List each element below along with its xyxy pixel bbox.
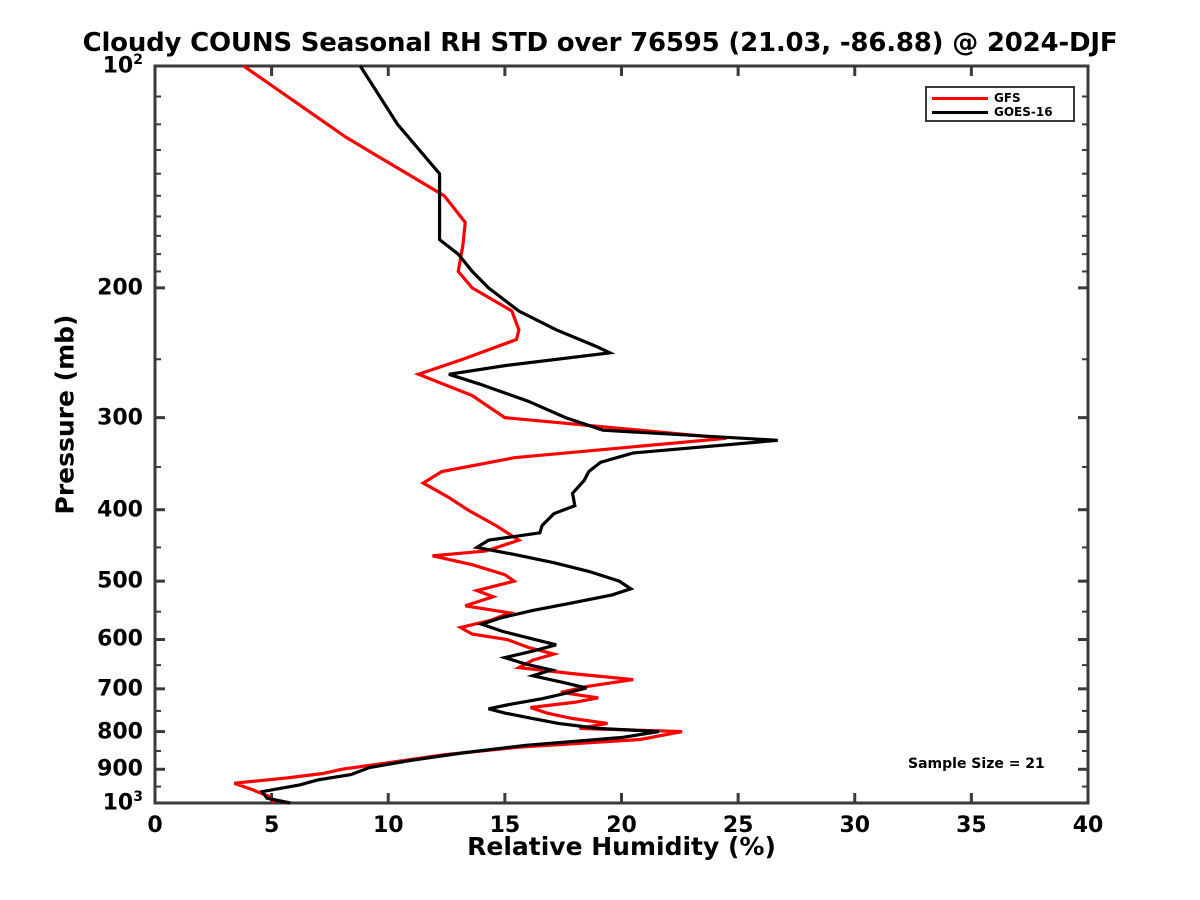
axes-frame <box>155 66 1088 803</box>
sample-size-annotation: Sample Size = 21 <box>908 756 1045 772</box>
legend-item-goes16: GOES-16 <box>932 105 1068 119</box>
x-tick-label: 40 <box>1073 813 1104 838</box>
y-tick-label: 400 <box>40 497 143 522</box>
legend-label-gfs: GFS <box>994 91 1021 105</box>
x-tick-label: 5 <box>264 813 279 838</box>
legend-item-gfs: GFS <box>932 91 1068 105</box>
y-tick-label: 800 <box>40 719 143 744</box>
tick-marks <box>155 66 1088 803</box>
x-tick-label: 30 <box>839 813 870 838</box>
y-tick-label: 700 <box>40 676 143 701</box>
x-tick-label: 35 <box>956 813 987 838</box>
x-tick-label: 25 <box>723 813 754 838</box>
legend: GFS GOES-16 <box>925 86 1075 122</box>
y-tick-label: 200 <box>40 275 143 300</box>
x-tick-label: 0 <box>147 813 162 838</box>
x-tick-label: 15 <box>490 813 521 838</box>
x-tick-label: 10 <box>373 813 404 838</box>
y-tick-label: 103 <box>40 791 143 816</box>
y-tick-label: 600 <box>40 627 143 652</box>
legend-swatch-goes16 <box>932 111 988 114</box>
legend-swatch-gfs <box>932 97 988 100</box>
y-tick-label: 500 <box>40 569 143 594</box>
series-line-goes-16 <box>262 66 777 803</box>
page-title: Cloudy COUNS Seasonal RH STD over 76595 … <box>0 28 1200 58</box>
x-tick-label: 20 <box>606 813 637 838</box>
legend-label-goes16: GOES-16 <box>994 105 1053 119</box>
y-tick-label: 102 <box>40 54 143 79</box>
figure-container: Cloudy COUNS Seasonal RH STD over 76595 … <box>0 0 1200 900</box>
y-tick-label: 300 <box>40 405 143 430</box>
y-tick-label: 900 <box>40 757 143 782</box>
data-series-layer <box>234 66 777 803</box>
